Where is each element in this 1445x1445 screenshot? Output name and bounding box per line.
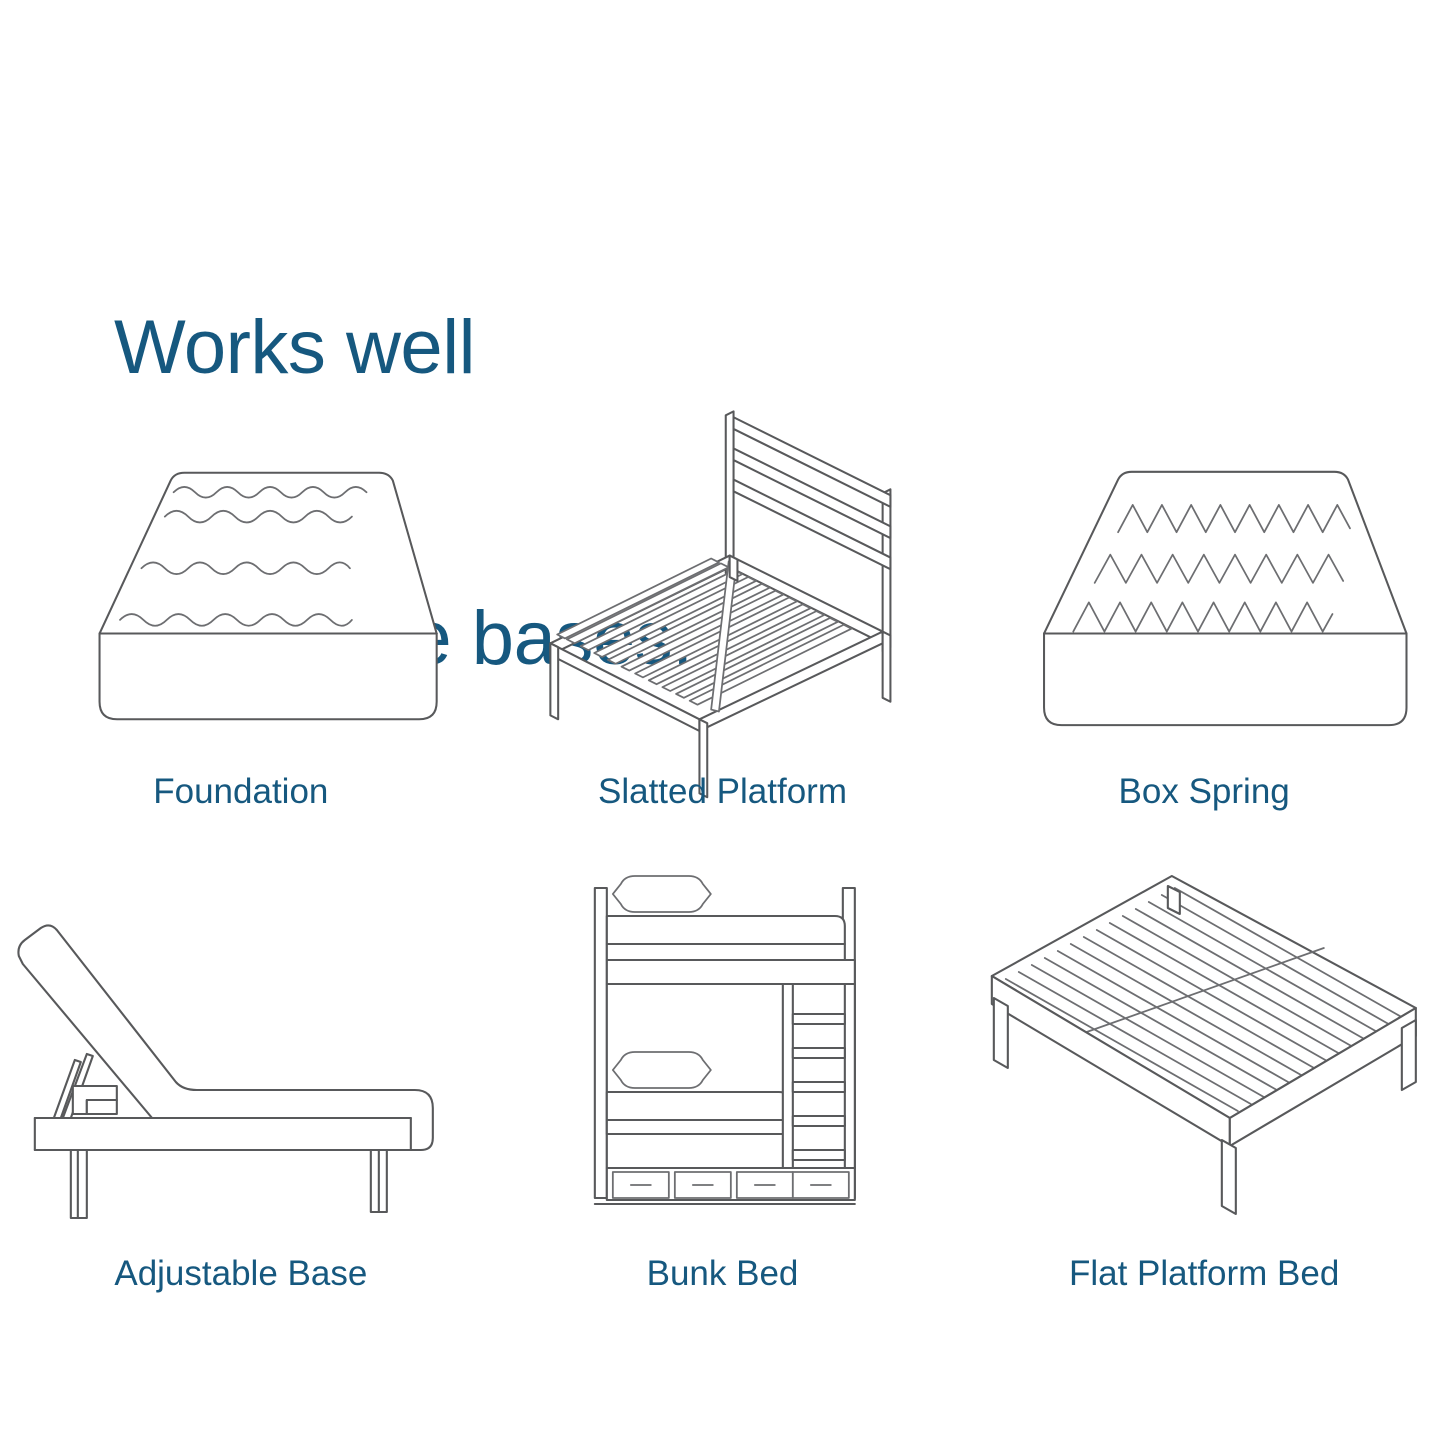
page-title-line-1: Works well bbox=[114, 299, 693, 396]
base-label-bunk-bed: Bunk Bed bbox=[647, 1256, 799, 1291]
base-label-slatted-platform: Slatted Platform bbox=[598, 774, 847, 809]
base-label-adjustable-base: Adjustable Base bbox=[114, 1256, 367, 1291]
adjustable-base-icon bbox=[0, 868, 482, 1228]
base-card-box-spring: Box Spring bbox=[963, 388, 1445, 858]
base-card-bunk-bed: Bunk Bed bbox=[482, 868, 964, 1338]
bunk-bed-icon bbox=[482, 868, 964, 1228]
base-card-adjustable-base: Adjustable Base bbox=[0, 868, 482, 1338]
base-card-foundation: Foundation bbox=[0, 388, 482, 858]
base-label-foundation: Foundation bbox=[153, 774, 328, 809]
bases-grid: Foundation bbox=[0, 388, 1445, 1338]
base-card-flat-platform-bed: Flat Platform Bed bbox=[963, 868, 1445, 1338]
flat-platform-bed-icon bbox=[963, 868, 1445, 1228]
infographic-page: Works well with these bases. bbox=[0, 0, 1445, 1445]
base-label-flat-platform-bed: Flat Platform Bed bbox=[1069, 1256, 1339, 1291]
base-card-slatted-platform: Slatted Platform bbox=[482, 388, 964, 858]
box-spring-icon bbox=[963, 388, 1445, 768]
slatted-platform-bed-icon bbox=[482, 388, 964, 768]
foundation-mattress-icon bbox=[0, 388, 482, 768]
base-label-box-spring: Box Spring bbox=[1119, 774, 1290, 809]
